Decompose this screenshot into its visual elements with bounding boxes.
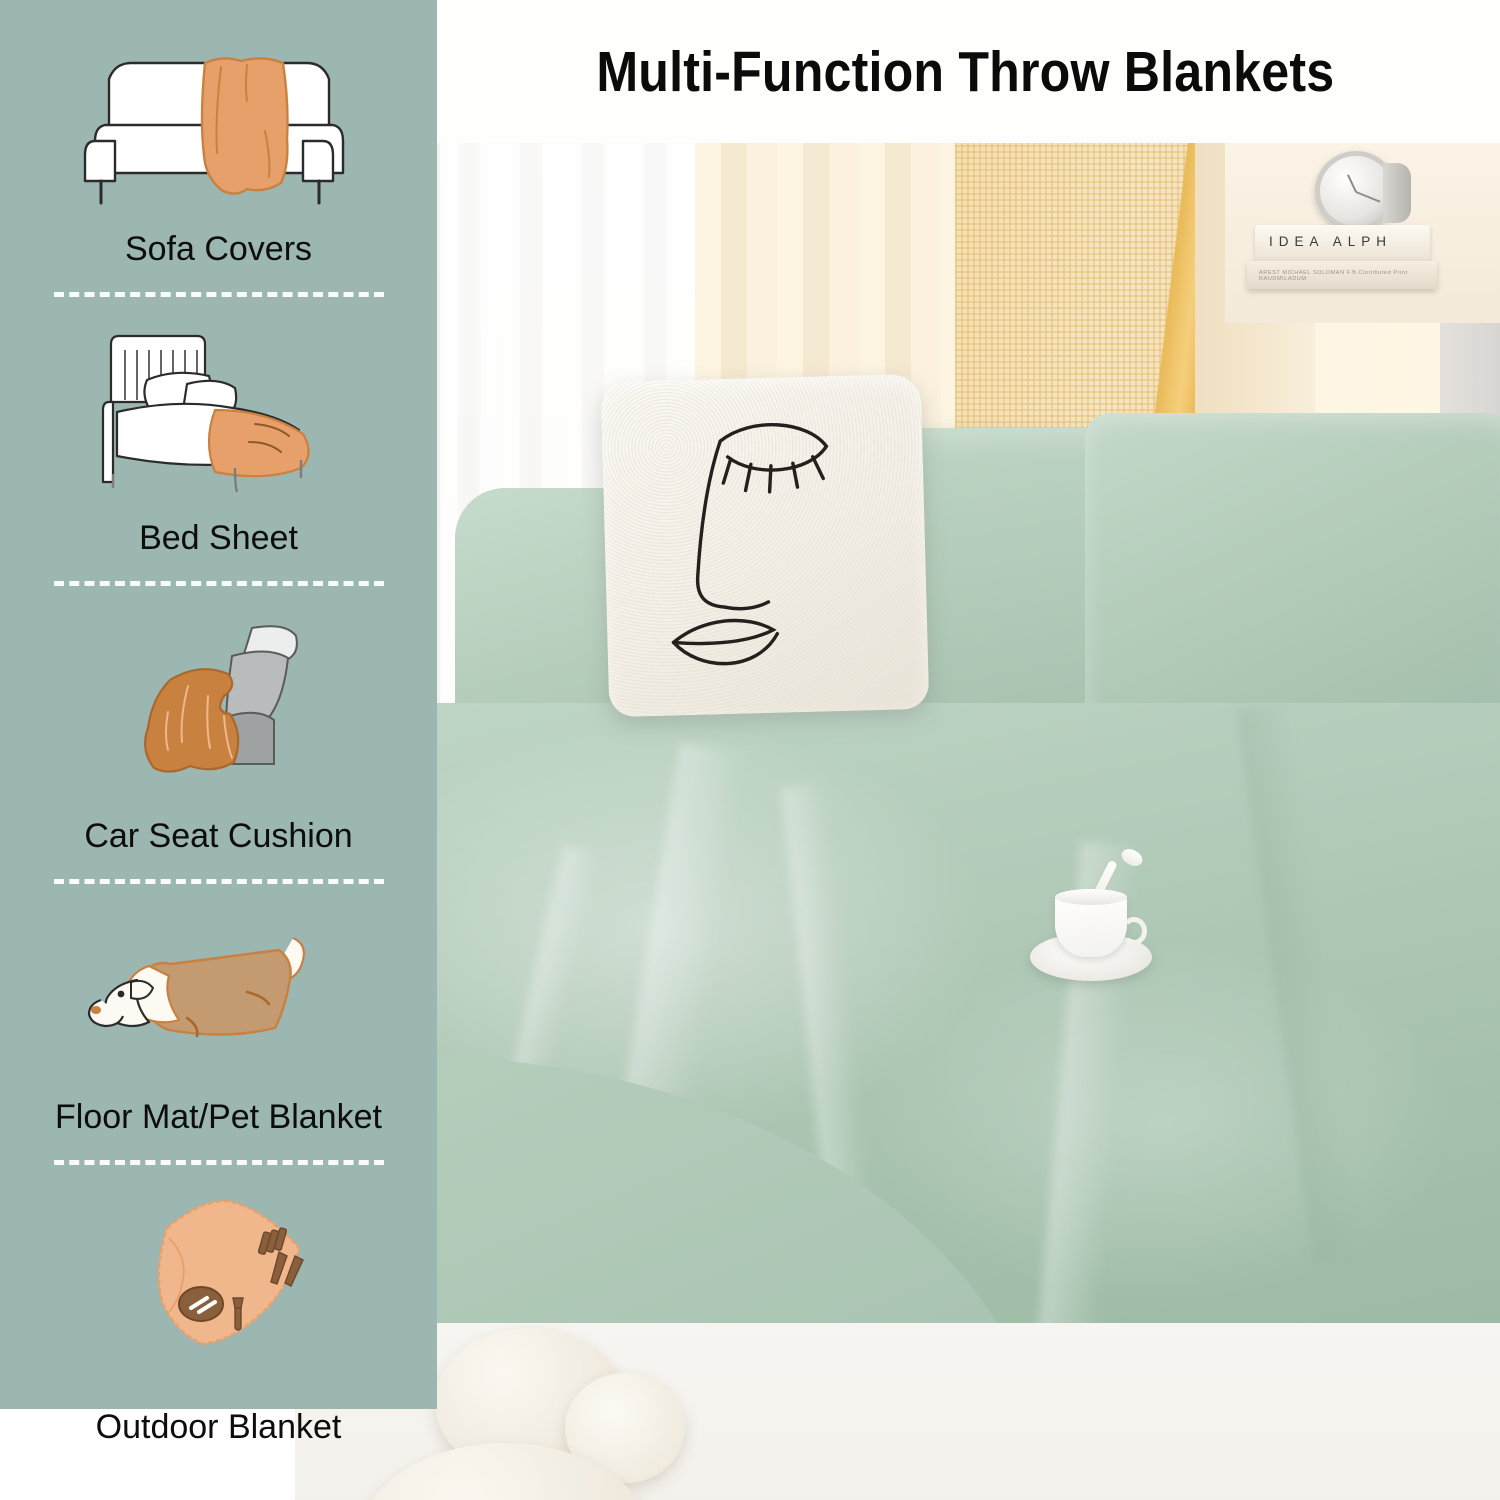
title-banner: Multi-Function Throw Blankets [430, 0, 1500, 143]
picnic-blanket-icon [0, 1191, 437, 1396]
sidebar-label-sofa-covers: Sofa Covers [0, 232, 437, 266]
sidebar-item-car-seat-cushion[interactable]: Car Seat Cushion [0, 612, 437, 853]
bed-with-blanket-icon [0, 323, 437, 503]
page-title: Multi-Function Throw Blankets [596, 39, 1334, 105]
sidebar-item-bed-sheet[interactable]: Bed Sheet [0, 323, 437, 555]
sidebar-label-bed-sheet: Bed Sheet [0, 521, 437, 555]
line-art-face-icon [601, 374, 930, 717]
sofa-with-throw-icon [0, 16, 437, 216]
shelf-book-bottom: AREST MICHAEL SOLOMAN F.B.Contibuted Pri… [1247, 261, 1437, 289]
teacup-handle [1121, 917, 1147, 945]
sidebar-divider [54, 292, 384, 297]
car-seat-with-cover-icon [0, 612, 437, 807]
teacup-rim [1055, 889, 1127, 905]
boucle-face-motif-pillow [601, 374, 930, 717]
sidebar-item-floor-mat-pet-blanket[interactable]: Floor Mat/Pet Blanket [0, 910, 437, 1134]
sidebar-divider [54, 1160, 384, 1165]
sidebar-item-outdoor-blanket[interactable]: Outdoor Blanket [0, 1191, 437, 1444]
sidebar-divider [54, 581, 384, 586]
sidebar-label-car-seat-cushion: Car Seat Cushion [0, 819, 437, 853]
use-case-sidebar: Sofa Covers [0, 0, 437, 1409]
shelf-book-bottom-title: AREST MICHAEL SOLOMAN F.B.Contibuted Pri… [1259, 270, 1437, 282]
sidebar-item-sofa-covers[interactable]: Sofa Covers [0, 16, 437, 266]
dog-wrapped-in-blanket-icon [0, 910, 437, 1090]
product-infographic: IDEA ALPH AREST MICHAEL SOLOMAN F.B.Cont… [0, 0, 1500, 1500]
shelf-book-top-title: IDEA ALPH [1269, 234, 1392, 249]
sidebar-label-floor-mat-pet-blanket: Floor Mat/Pet Blanket [0, 1100, 437, 1134]
shelf-book-top: IDEA ALPH [1255, 225, 1430, 261]
clock-body-side [1383, 163, 1411, 223]
sidebar-label-outdoor-blanket: Outdoor Blanket [0, 1410, 437, 1444]
sidebar-divider [54, 879, 384, 884]
lifestyle-product-photo: IDEA ALPH AREST MICHAEL SOLOMAN F.B.Cont… [295, 143, 1500, 1500]
